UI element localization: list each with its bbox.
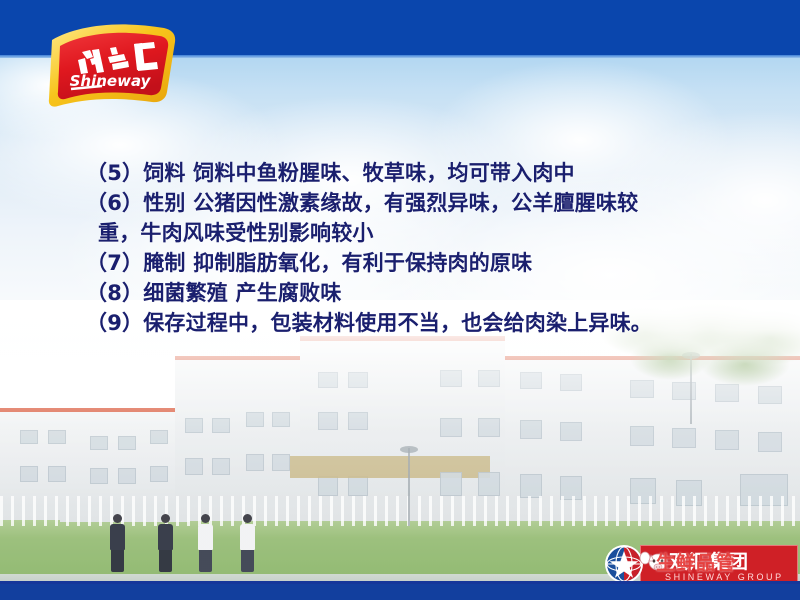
building-window xyxy=(478,418,500,437)
building-window xyxy=(520,474,542,498)
pedestrian-figure xyxy=(198,514,213,572)
presentation-slide: Shineway （5）饲料 饲料中鱼粉腥味、牧草味，均可带入肉中 （6）性别 … xyxy=(0,0,800,600)
building-window xyxy=(440,472,462,496)
building-window xyxy=(348,476,368,496)
building-window xyxy=(90,468,108,484)
building-window xyxy=(478,370,500,387)
building-window xyxy=(630,380,654,398)
building-window xyxy=(185,418,203,433)
fresh-quality-control-overlay: 生鲜品管 xyxy=(656,548,736,575)
body-line-9: （9）保存过程中，包装材料使用不当，也会给肉染上异味。 xyxy=(86,308,746,338)
building-window xyxy=(20,466,38,482)
body-line-7: （7）腌制 抑制脂肪氧化，有利于保持肉的原味 xyxy=(86,248,746,278)
building-window xyxy=(185,458,203,475)
street-lamp-post xyxy=(690,354,692,424)
shineway-flag-icon: Shineway xyxy=(46,16,182,110)
building-window xyxy=(318,476,338,496)
building-window xyxy=(20,430,38,444)
body-line-6: （6）性别 公猪因性激素缘故，有强烈异味，公羊膻腥味较 xyxy=(86,188,746,218)
building-window xyxy=(758,386,782,404)
shineway-flag-logo: Shineway xyxy=(46,16,182,110)
building-window xyxy=(715,384,739,402)
building-window xyxy=(520,372,542,389)
building-window xyxy=(478,472,500,496)
bottom-blue-band xyxy=(0,584,800,600)
building-window xyxy=(48,466,66,482)
body-line-6b: 重，牛肉风味受性别影响较小 xyxy=(86,218,746,248)
street-lamp-head xyxy=(682,352,700,359)
building-window xyxy=(212,418,230,433)
building-window xyxy=(318,412,338,430)
street-lamp-post xyxy=(408,448,410,526)
building-window xyxy=(715,430,739,450)
slide-body-text: （5）饲料 饲料中鱼粉腥味、牧草味，均可带入肉中 （6）性别 公猪因性激素缘故，… xyxy=(86,158,746,338)
building-window xyxy=(212,458,230,475)
shineway-group-logo: 双汇集团 SHINEWAY GROUP 生鲜品管 xyxy=(604,542,796,586)
building-window xyxy=(348,372,368,388)
building-window xyxy=(272,454,290,471)
building-window xyxy=(246,412,264,427)
building-window xyxy=(348,412,368,430)
building-window xyxy=(560,422,582,441)
building-window xyxy=(150,430,168,444)
pedestrian-figure xyxy=(158,514,173,572)
building-window xyxy=(90,436,108,450)
building-window xyxy=(672,428,696,448)
building-window xyxy=(758,432,782,452)
building-window xyxy=(318,372,338,388)
pedestrian-figure xyxy=(110,514,125,572)
pedestrian-figure xyxy=(240,514,255,572)
body-line-5: （5）饲料 饲料中鱼粉腥味、牧草味，均可带入肉中 xyxy=(86,158,746,188)
building-window xyxy=(150,466,168,482)
building-window xyxy=(672,382,696,400)
building-window xyxy=(48,430,66,444)
building-window xyxy=(520,420,542,439)
body-line-8: （8）细菌繁殖 产生腐败味 xyxy=(86,278,746,308)
building-window xyxy=(272,412,290,427)
building-window xyxy=(118,436,136,450)
street-lamp-head xyxy=(400,446,418,453)
building-window xyxy=(246,454,264,471)
building-window xyxy=(118,468,136,484)
building-window xyxy=(440,370,462,387)
building-window xyxy=(560,374,582,391)
building-window xyxy=(440,418,462,437)
building-window xyxy=(630,426,654,446)
